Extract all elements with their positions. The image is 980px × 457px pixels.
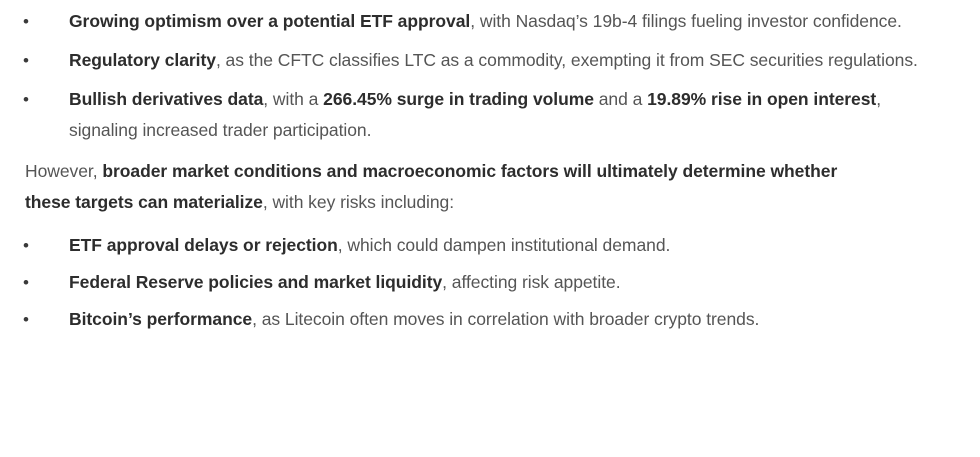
bullet-list-risks: • ETF approval delays or rejection, whic… bbox=[22, 230, 958, 335]
list-item: • Bullish derivatives data, with a 266.4… bbox=[22, 84, 958, 146]
list-item-lead: Bullish derivatives data bbox=[69, 89, 263, 109]
bullet-point-icon: • bbox=[22, 230, 69, 261]
list-item-rest: , affecting risk appetite. bbox=[442, 272, 620, 292]
caveat-paragraph: However, broader market conditions and m… bbox=[22, 156, 870, 218]
bullet-point-icon: • bbox=[22, 6, 69, 37]
list-item-rest: , which could dampen institutional deman… bbox=[338, 235, 671, 255]
list-item-text: ETF approval delays or rejection, which … bbox=[69, 230, 929, 261]
metric-open-interest-rise: 19.89% rise in open interest bbox=[647, 89, 876, 109]
bullet-point-icon: • bbox=[22, 84, 69, 115]
document-body: • Growing optimism over a potential ETF … bbox=[0, 0, 980, 457]
list-item-text: Bitcoin’s performance, as Litecoin often… bbox=[69, 304, 929, 335]
metric-volume-surge: 266.45% surge in trading volume bbox=[323, 89, 594, 109]
list-item-text: Bullish derivatives data, with a 266.45%… bbox=[69, 84, 929, 146]
list-item-text: Regulatory clarity, as the CFTC classifi… bbox=[69, 45, 929, 76]
list-item: • Regulatory clarity, as the CFTC classi… bbox=[22, 45, 958, 76]
bullet-point-icon: • bbox=[22, 45, 69, 76]
list-item-lead: Federal Reserve policies and market liqu… bbox=[69, 272, 442, 292]
paragraph-rest: , with key risks including: bbox=[263, 192, 454, 212]
list-item-lead: Regulatory clarity bbox=[69, 50, 216, 70]
list-item: • ETF approval delays or rejection, whic… bbox=[22, 230, 958, 261]
list-item-lead: Growing optimism over a potential ETF ap… bbox=[69, 11, 470, 31]
list-item-text: Federal Reserve policies and market liqu… bbox=[69, 267, 929, 298]
bullet-point-icon: • bbox=[22, 304, 69, 335]
bullet-point-icon: • bbox=[22, 267, 69, 298]
list-item-lead: ETF approval delays or rejection bbox=[69, 235, 338, 255]
list-item-rest: , as Litecoin often moves in correlation… bbox=[252, 309, 759, 329]
list-item-lead: Bitcoin’s performance bbox=[69, 309, 252, 329]
list-item: • Bitcoin’s performance, as Litecoin oft… bbox=[22, 304, 958, 335]
list-item-rest: , with Nasdaq’s 19b-4 filings fueling in… bbox=[470, 11, 902, 31]
list-item-text-part-a: , with a bbox=[263, 89, 323, 109]
list-item-rest: , as the CFTC classifies LTC as a commod… bbox=[216, 50, 918, 70]
list-item-text-part-b: and a bbox=[594, 89, 647, 109]
paragraph-lead: However, bbox=[25, 161, 102, 181]
list-item: • Growing optimism over a potential ETF … bbox=[22, 6, 958, 37]
list-item-text: Growing optimism over a potential ETF ap… bbox=[69, 6, 929, 37]
list-item: • Federal Reserve policies and market li… bbox=[22, 267, 958, 298]
bullet-list-drivers: • Growing optimism over a potential ETF … bbox=[22, 6, 958, 146]
